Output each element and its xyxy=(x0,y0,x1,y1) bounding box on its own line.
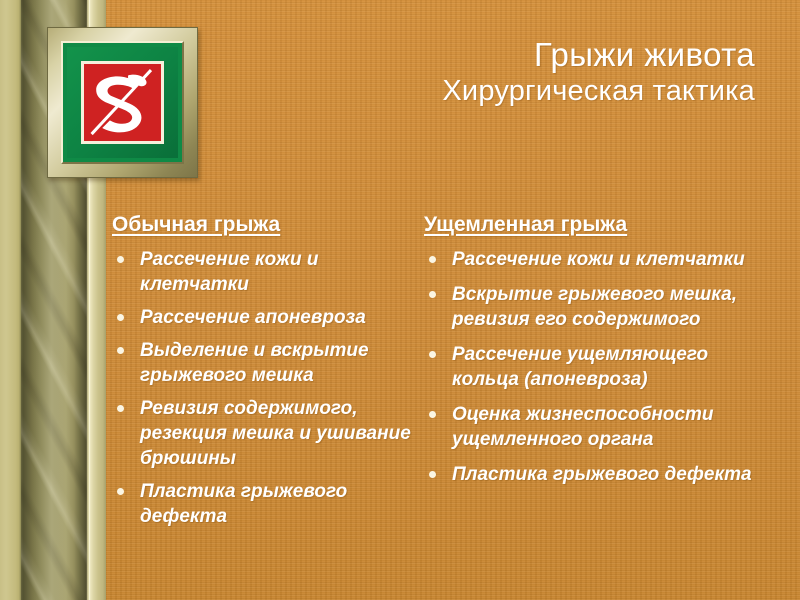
serpent-symbol-icon xyxy=(84,64,160,140)
page-title: Грыжи живота xyxy=(442,36,755,74)
list-item-text: Вскрытие грыжевого мешка, ревизия его со… xyxy=(452,284,737,330)
column-ordinary-hernia: Обычная грыжа Рассечение кожи и клетчатк… xyxy=(112,212,412,537)
list-item-text: Выделение и вскрытие грыжевого мешка xyxy=(140,340,369,386)
bullet-dot-icon xyxy=(429,411,436,418)
list-item: Выделение и вскрытие грыжевого мешка xyxy=(112,338,412,388)
bullet-dot-icon xyxy=(117,314,124,321)
list-item: Вскрытие грыжевого мешка, ревизия его со… xyxy=(424,282,774,332)
bullet-dot-icon xyxy=(117,256,124,263)
medical-serpent-emblem-icon xyxy=(47,27,198,178)
list-item-text: Пластика грыжевого дефекта xyxy=(452,464,752,485)
column-heading-ordinary-hernia: Обычная грыжа xyxy=(112,212,412,238)
bullet-dot-icon xyxy=(429,471,436,478)
title-block: Грыжи живота Хирургическая тактика xyxy=(442,36,755,108)
list-item-text: Рассечение ущемляющего кольца (апоневроз… xyxy=(452,344,708,390)
presentation-slide: Грыжи живота Хирургическая тактика Обычн… xyxy=(0,0,800,600)
bullet-dot-icon xyxy=(429,291,436,298)
list-item: Пластика грыжевого дефекта xyxy=(424,462,774,487)
list-item: Оценка жизнеспособности ущемленного орга… xyxy=(424,402,774,452)
bullet-dot-icon xyxy=(117,347,124,354)
list-item: Рассечение апоневроза xyxy=(112,305,412,330)
list-item: Рассечение кожи и клетчатки xyxy=(112,247,412,297)
list-item-text: Рассечение кожи и клетчатки xyxy=(140,249,319,295)
bullet-dot-icon xyxy=(429,256,436,263)
list-item: Ревизия содержимого, резекция мешка и уш… xyxy=(112,396,412,471)
emblem-inner-border xyxy=(81,61,163,143)
bullet-list-ordinary-hernia: Рассечение кожи и клетчатки Рассечение а… xyxy=(112,247,412,529)
list-item-text: Ревизия содержимого, резекция мешка и уш… xyxy=(140,398,411,469)
list-item-text: Рассечение апоневроза xyxy=(140,307,366,328)
emblem-green-field xyxy=(67,47,178,158)
bullet-dot-icon xyxy=(117,488,124,495)
page-subtitle: Хирургическая тактика xyxy=(442,74,755,108)
bullet-list-strangulated-hernia: Рассечение кожи и клетчатки Вскрытие гры… xyxy=(424,247,774,487)
list-item-text: Пластика грыжевого дефекта xyxy=(140,481,347,527)
list-item: Пластика грыжевого дефекта xyxy=(112,479,412,529)
bullet-dot-icon xyxy=(117,405,124,412)
list-item: Рассечение кожи и клетчатки xyxy=(424,247,774,272)
list-item: Рассечение ущемляющего кольца (апоневроз… xyxy=(424,342,774,392)
column-heading-strangulated-hernia: Ущемленная грыжа xyxy=(424,212,774,238)
list-item-text: Рассечение кожи и клетчатки xyxy=(452,249,745,270)
bullet-dot-icon xyxy=(429,351,436,358)
emblem-bevel xyxy=(61,41,184,164)
list-item-text: Оценка жизнеспособности ущемленного орга… xyxy=(452,404,714,450)
column-strangulated-hernia: Ущемленная грыжа Рассечение кожи и клетч… xyxy=(424,212,774,497)
emblem-red-badge xyxy=(84,64,160,140)
